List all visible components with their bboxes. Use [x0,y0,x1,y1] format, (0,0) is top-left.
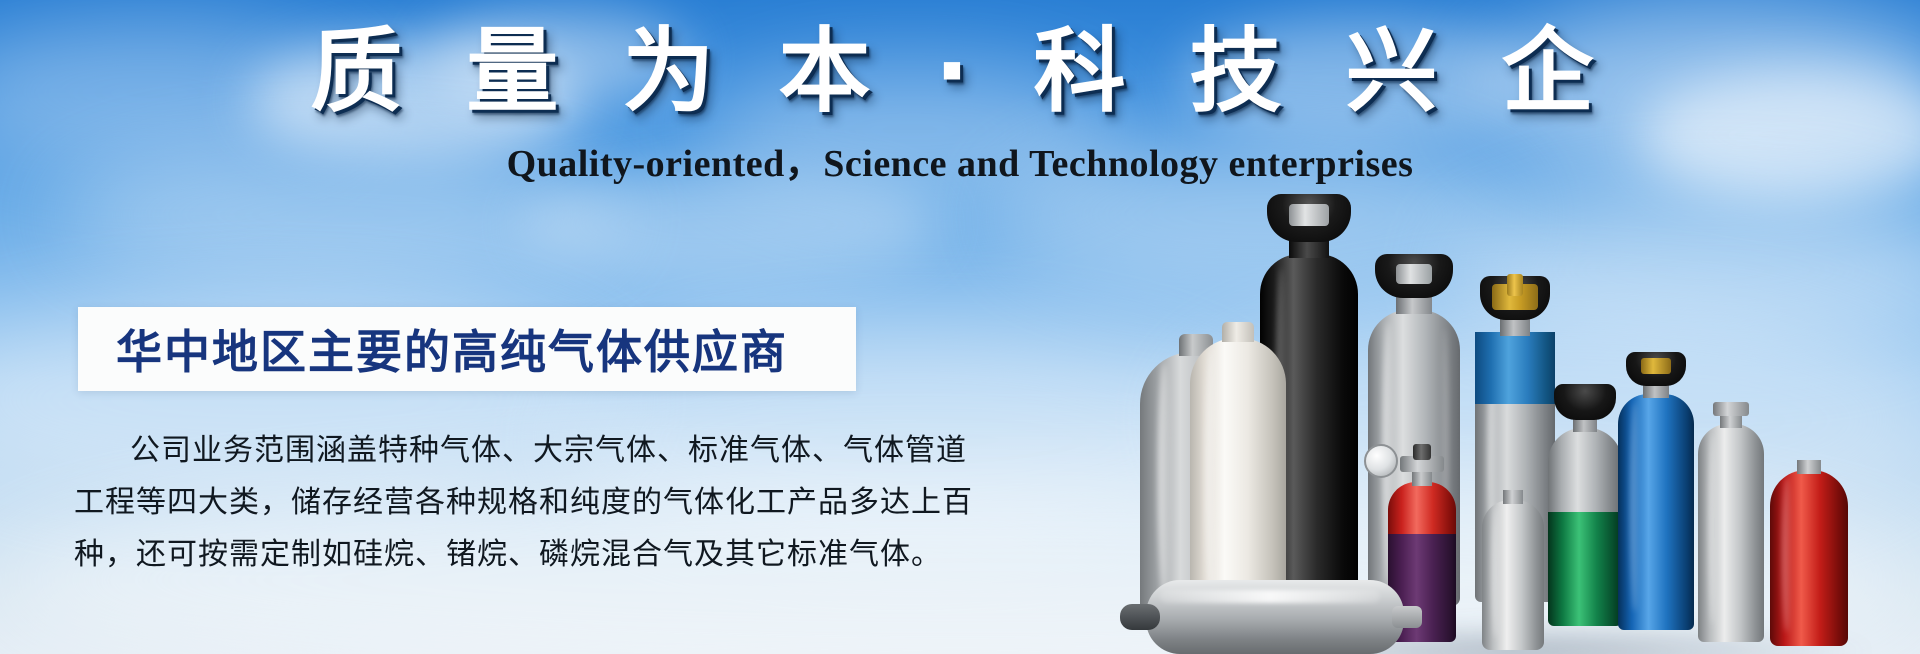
grey-horizontal-cylinder [1120,580,1420,654]
body-paragraph: 公司业务范围涵盖特种气体、大宗气体、标准气体、气体管道 工程等四大类，储存经营各… [74,425,884,581]
body-line-3: 种，还可按需定制如硅烷、锗烷、磷烷混合气及其它标准气体。 [74,529,884,581]
pressure-gauge [1364,444,1398,478]
aluminium-cylinder [1698,412,1764,642]
green-cylinder [1548,386,1622,626]
body-line-1: 公司业务范围涵盖特种气体、大宗气体、标准气体、气体管道 [74,425,884,477]
gas-cylinder-group [1150,0,1920,654]
blue-cylinder [1618,354,1694,630]
slogan-box: 华中地区主要的高纯气体供应商 [78,307,856,391]
promo-banner: 质 量 为 本 · 科 技 兴 企 Quality-oriented，Scien… [0,0,1920,654]
aluminium-short-bottle [1482,488,1544,650]
red-cylinder [1770,458,1848,646]
slogan-text: 华中地区主要的高纯气体供应商 [116,316,788,382]
body-line-2: 工程等四大类，储存经营各种规格和纯度的气体化工产品多达上百 [74,477,884,529]
